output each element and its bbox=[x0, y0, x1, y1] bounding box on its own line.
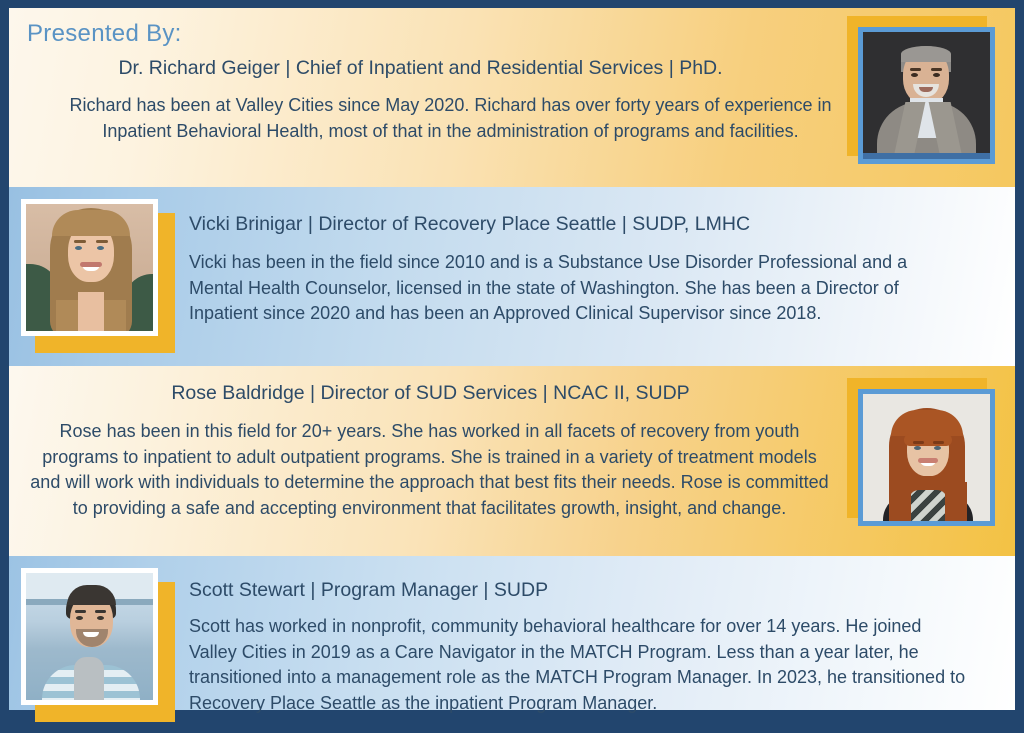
portrait-frame-rose-baldridge bbox=[847, 378, 999, 530]
page-title: Presented By: bbox=[27, 20, 182, 48]
person-bio: Scott has worked in nonprofit, community… bbox=[189, 614, 967, 716]
bio-panel-richard-geiger: Presented By: Dr. Richard Geiger | Chief… bbox=[9, 8, 1015, 187]
bio-panel-rose-baldridge: Rose Baldridge | Director of SUD Service… bbox=[9, 366, 1015, 556]
person-bio: Vicki has been in the field since 2010 a… bbox=[189, 250, 960, 327]
avatar bbox=[21, 568, 158, 705]
person-name-line: Vicki Brinigar | Director of Recovery Pl… bbox=[189, 212, 960, 236]
bio-panel-vicki-brinigar: Vicki Brinigar | Director of Recovery Pl… bbox=[9, 187, 1015, 366]
portrait-frame-richard-geiger bbox=[847, 16, 999, 168]
avatar bbox=[858, 389, 995, 526]
avatar bbox=[21, 199, 158, 336]
avatar bbox=[858, 27, 995, 164]
person-bio: Richard has been at Valley Cities since … bbox=[69, 93, 832, 144]
person-name-line: Dr. Richard Geiger | Chief of Inpatient … bbox=[9, 56, 832, 80]
portrait-frame-vicki-brinigar bbox=[21, 199, 173, 351]
portrait-frame-scott-stewart bbox=[21, 568, 173, 720]
bio-panel-scott-stewart: Scott Stewart | Program Manager | SUDP S… bbox=[9, 556, 1015, 710]
person-name-line: Scott Stewart | Program Manager | SUDP bbox=[189, 578, 967, 602]
bio-panel-list: Presented By: Dr. Richard Geiger | Chief… bbox=[9, 8, 1015, 710]
presentation-slide: Presented By: Dr. Richard Geiger | Chief… bbox=[0, 0, 1024, 733]
person-name-line: Rose Baldridge | Director of SUD Service… bbox=[29, 381, 832, 405]
person-bio: Rose has been in this field for 20+ year… bbox=[27, 419, 832, 521]
